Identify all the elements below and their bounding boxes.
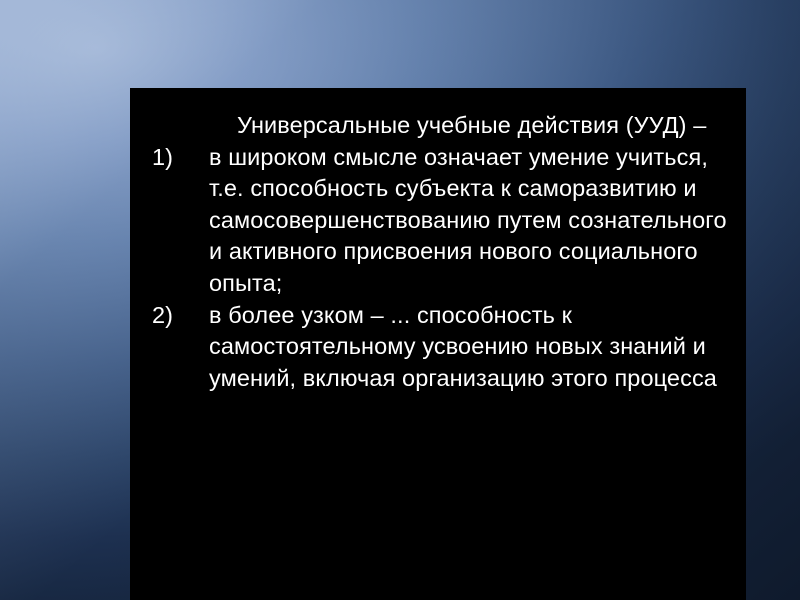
slide-text-box: Универсальные учебные действия (УУД) – 1… bbox=[130, 88, 746, 600]
paragraph-item-2: 2) в более узком – ... способность к сам… bbox=[152, 300, 728, 395]
paragraph-title: Универсальные учебные действия (УУД) – bbox=[152, 110, 728, 142]
paragraph-text: в широком смысле означает умение учиться… bbox=[209, 142, 728, 300]
slide-canvas: Универсальные учебные действия (УУД) – 1… bbox=[0, 0, 800, 600]
paragraph-item-1: 1) в широком смысле означает умение учит… bbox=[152, 142, 728, 300]
paragraph-text: в более узком – ... способность к самост… bbox=[209, 300, 728, 395]
paragraph-text: Универсальные учебные действия (УУД) – bbox=[209, 110, 728, 142]
paragraph-marker: 2) bbox=[152, 300, 209, 332]
paragraph-marker: 1) bbox=[152, 142, 209, 174]
slide-text-content: Универсальные учебные действия (УУД) – 1… bbox=[130, 88, 746, 394]
